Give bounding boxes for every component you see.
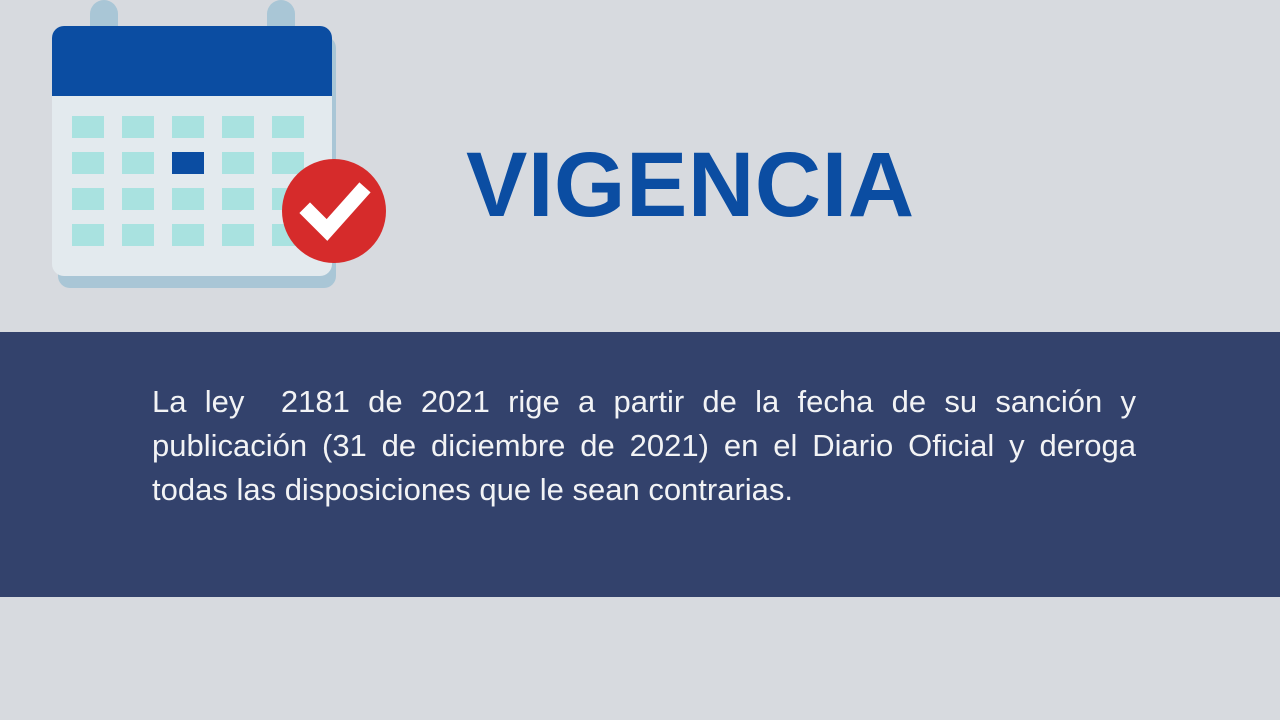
calendar-day-cell (222, 188, 254, 210)
calendar-day-cell (122, 116, 154, 138)
calendar-day-cell (72, 152, 104, 174)
calendar-day-cell (122, 224, 154, 246)
calendar-day-cell (72, 116, 104, 138)
calendar-day-cell (272, 116, 304, 138)
calendar-day-cell (222, 116, 254, 138)
calendar-day-cell (72, 224, 104, 246)
calendar-day-cell (72, 188, 104, 210)
calendar-day-cell (172, 188, 204, 210)
calendar-day-cell (122, 152, 154, 174)
calendar-day-cell (222, 152, 254, 174)
calendar-day-cell (122, 188, 154, 210)
header-area: VIGENCIA (0, 0, 1280, 332)
calendar-day-cell (172, 116, 204, 138)
body-band: La ley 2181 de 2021 rige a partir de la … (0, 332, 1280, 597)
page-title: VIGENCIA (466, 137, 915, 233)
calendar-day-cell (222, 224, 254, 246)
body-paragraph: La ley 2181 de 2021 rige a partir de la … (152, 380, 1136, 512)
slide: VIGENCIA La ley 2181 de 2021 rige a part… (0, 0, 1280, 720)
calendar-day-cell (172, 224, 204, 246)
calendar-header-bar (52, 26, 332, 96)
calendar-day-cell-selected (172, 152, 204, 174)
footer-area (0, 597, 1280, 720)
check-circle-icon (282, 159, 386, 263)
calendar-check-icon (52, 0, 342, 292)
